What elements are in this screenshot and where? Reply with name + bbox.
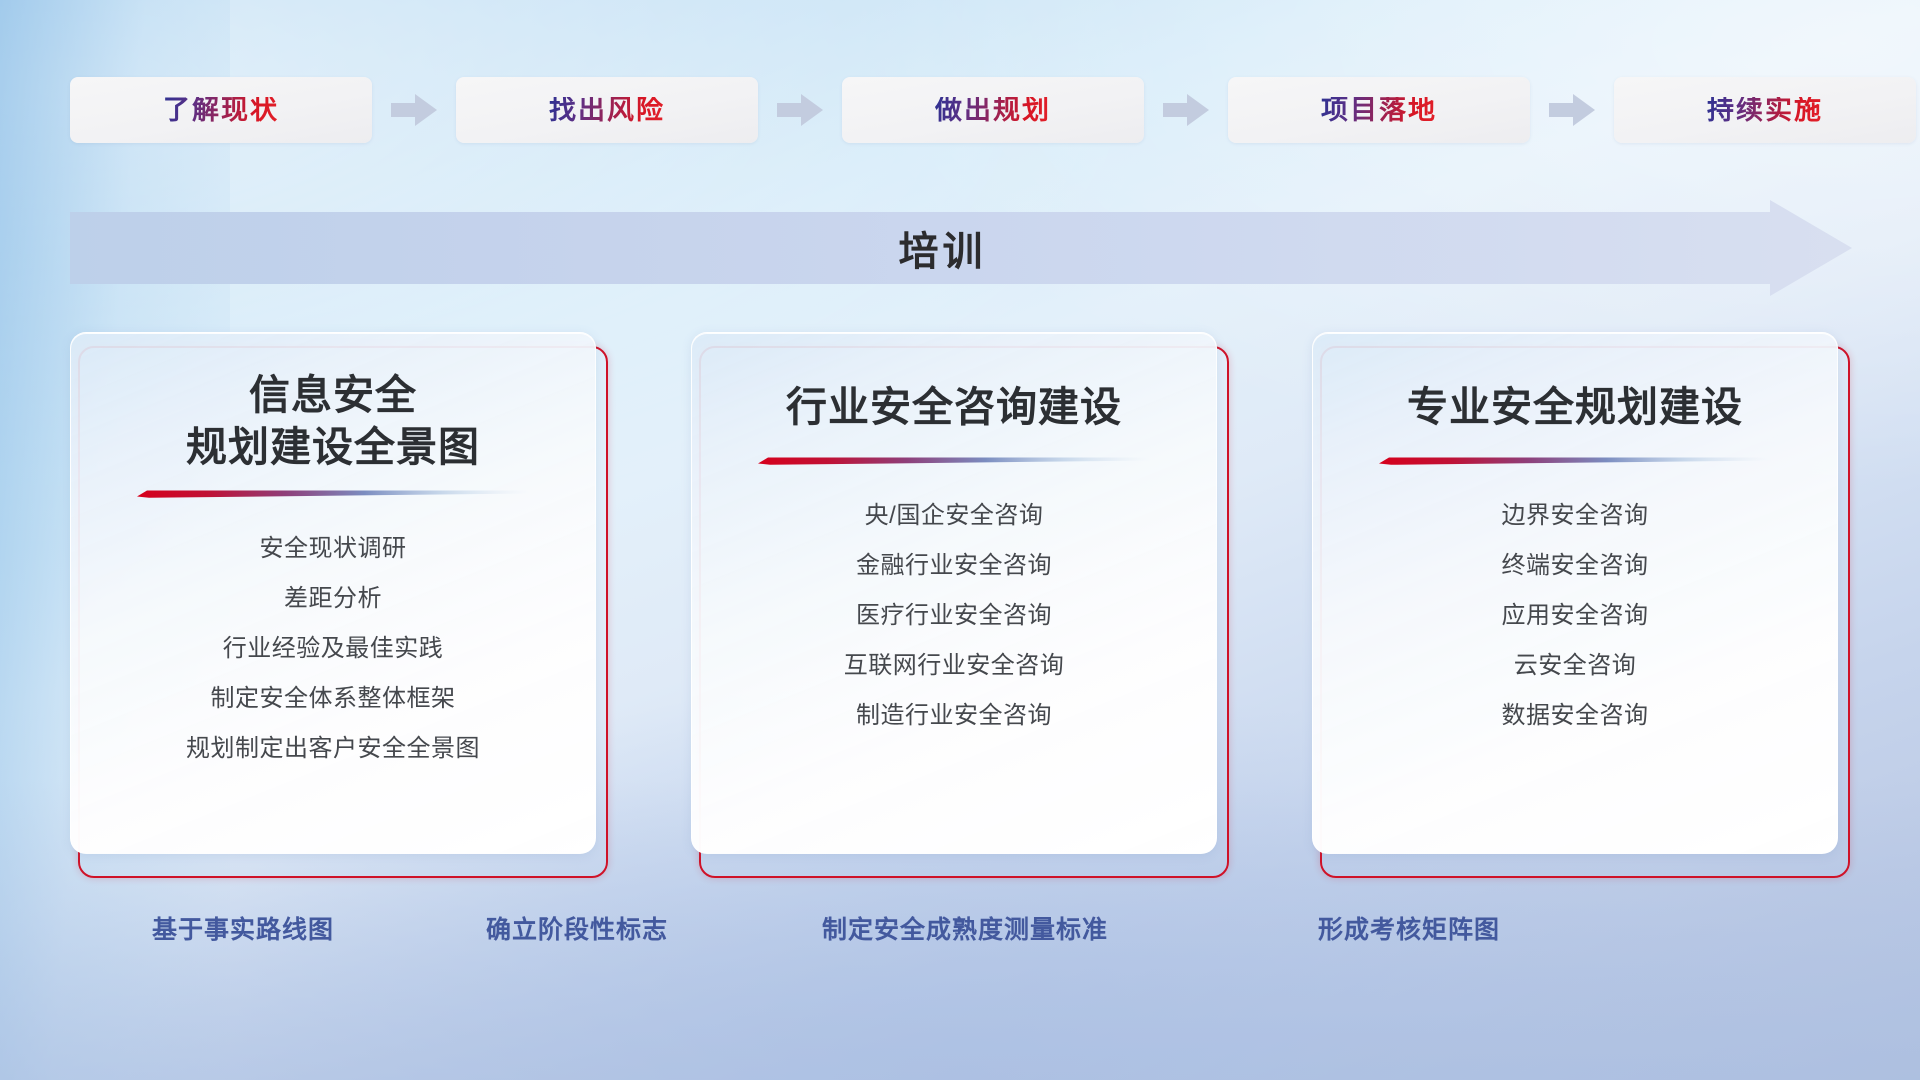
card-item-list: 安全现状调研差距分析行业经验及最佳实践制定安全体系整体框架规划制定出客户安全全景…	[71, 524, 595, 774]
footer-label-row: 基于事实路线图确立阶段性标志制定安全成熟度测量标准形成考核矩阵图	[0, 910, 1920, 958]
process-step-label: 找出风险	[549, 97, 665, 124]
training-banner: 培训	[70, 200, 1852, 296]
card-list-item: 央/国企安全咨询	[865, 491, 1044, 541]
card-list-item: 云安全咨询	[1514, 641, 1637, 691]
card-list-item: 行业经验及最佳实践	[223, 624, 444, 674]
footer-label-1: 基于事实路线图	[152, 910, 334, 946]
training-banner-label: 培训	[70, 200, 1815, 296]
card-panel: 信息安全 规划建设全景图安全现状调研差距分析行业经验及最佳实践制定安全体系整体框…	[70, 332, 596, 854]
chevron-arrow-right-icon	[1154, 90, 1218, 130]
chevron-arrow-right-icon	[382, 90, 446, 130]
chevron-arrow-right-icon	[768, 90, 832, 130]
card-divider-rule	[1379, 455, 1771, 465]
process-step-label: 项目落地	[1321, 97, 1437, 124]
process-step-2[interactable]: 找出风险	[456, 77, 758, 143]
process-step-1[interactable]: 了解现状	[70, 77, 372, 143]
card-divider-rule	[137, 488, 529, 498]
card-title: 信息安全 规划建设全景图	[71, 369, 595, 474]
card-title: 专业安全规划建设	[1313, 381, 1837, 433]
process-step-3[interactable]: 做出规划	[842, 77, 1144, 143]
capability-card-3[interactable]: 专业安全规划建设边界安全咨询终端安全咨询应用安全咨询云安全咨询数据安全咨询	[1312, 332, 1852, 880]
process-step-label: 做出规划	[935, 97, 1051, 124]
card-list-item: 安全现状调研	[260, 524, 407, 574]
process-step-label: 持续实施	[1707, 97, 1823, 124]
card-list-item: 数据安全咨询	[1502, 691, 1649, 741]
card-list-item: 金融行业安全咨询	[856, 541, 1052, 591]
card-list-item: 差距分析	[284, 574, 382, 624]
card-item-list: 边界安全咨询终端安全咨询应用安全咨询云安全咨询数据安全咨询	[1313, 491, 1837, 741]
card-list-item: 边界安全咨询	[1502, 491, 1649, 541]
footer-label-2: 确立阶段性标志	[486, 910, 668, 946]
footer-label-4: 形成考核矩阵图	[1318, 910, 1500, 946]
process-step-label: 了解现状	[163, 97, 279, 124]
process-step-flow: 了解现状找出风险做出规划项目落地持续实施	[70, 76, 1852, 144]
capability-card-1[interactable]: 信息安全 规划建设全景图安全现状调研差距分析行业经验及最佳实践制定安全体系整体框…	[70, 332, 610, 880]
footer-label-3: 制定安全成熟度测量标准	[822, 910, 1108, 946]
card-list-item: 规划制定出客户安全全景图	[186, 724, 480, 774]
card-list-item: 制造行业安全咨询	[856, 691, 1052, 741]
card-list-item: 终端安全咨询	[1502, 541, 1649, 591]
card-divider-rule	[758, 455, 1150, 465]
card-list-item: 制定安全体系整体框架	[211, 674, 456, 724]
card-panel: 行业安全咨询建设央/国企安全咨询金融行业安全咨询医疗行业安全咨询互联网行业安全咨…	[691, 332, 1217, 854]
capability-card-2[interactable]: 行业安全咨询建设央/国企安全咨询金融行业安全咨询医疗行业安全咨询互联网行业安全咨…	[691, 332, 1231, 880]
card-list-item: 医疗行业安全咨询	[856, 591, 1052, 641]
card-item-list: 央/国企安全咨询金融行业安全咨询医疗行业安全咨询互联网行业安全咨询制造行业安全咨…	[692, 491, 1216, 741]
capability-card-row: 信息安全 规划建设全景图安全现状调研差距分析行业经验及最佳实践制定安全体系整体框…	[70, 332, 1852, 880]
process-step-4[interactable]: 项目落地	[1228, 77, 1530, 143]
chevron-arrow-right-icon	[1540, 90, 1604, 130]
process-step-5[interactable]: 持续实施	[1614, 77, 1916, 143]
card-title: 行业安全咨询建设	[692, 381, 1216, 433]
card-list-item: 应用安全咨询	[1502, 591, 1649, 641]
card-panel: 专业安全规划建设边界安全咨询终端安全咨询应用安全咨询云安全咨询数据安全咨询	[1312, 332, 1838, 854]
card-list-item: 互联网行业安全咨询	[844, 641, 1065, 691]
